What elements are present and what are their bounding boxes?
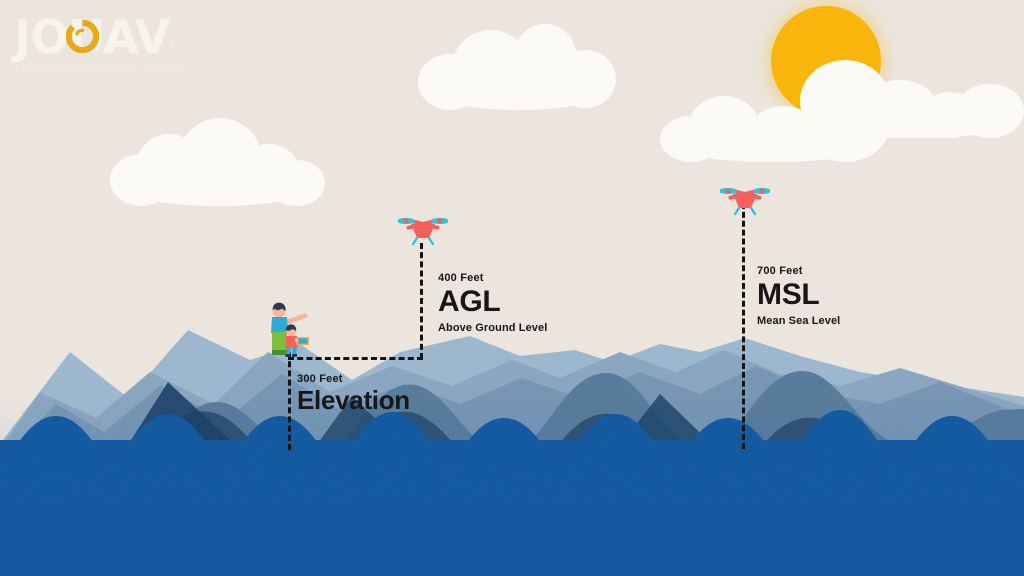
drone-icon-left — [398, 212, 448, 246]
msl-vertical-dashed-line — [742, 203, 745, 449]
label-msl: 700 Feet MSL Mean Sea Level — [757, 265, 840, 327]
brand-wordmark: JOUAV® — [14, 14, 187, 60]
drone-icon-right — [720, 182, 770, 216]
msl-feet-value: 700 Feet — [757, 265, 840, 277]
elevation-vertical-dashed-line — [288, 352, 291, 450]
agl-title: AGL — [438, 285, 547, 320]
agl-feet-value: 400 Feet — [438, 272, 547, 284]
brand-logo: JOUAV® Unmanned Aircraft System — [14, 14, 187, 77]
elevation-title: Elevation — [297, 386, 410, 416]
agl-subtitle: Above Ground Level — [438, 322, 547, 334]
agl-vertical-dashed-line — [420, 243, 423, 359]
msl-subtitle: Mean Sea Level — [757, 315, 840, 327]
drone-operator-figure — [258, 300, 316, 360]
msl-title: MSL — [757, 278, 840, 313]
label-elevation: 300 Feet Elevation — [297, 373, 410, 416]
label-agl: 400 Feet AGL Above Ground Level — [438, 272, 547, 334]
altitude-diagram-scene: 400 Feet AGL Above Ground Level 700 Feet… — [0, 0, 1024, 576]
logo-o-ring-icon — [66, 20, 99, 53]
registered-mark: ® — [169, 39, 176, 50]
brand-tagline: Unmanned Aircraft System — [16, 62, 187, 77]
elevation-feet-value: 300 Feet — [297, 373, 410, 385]
